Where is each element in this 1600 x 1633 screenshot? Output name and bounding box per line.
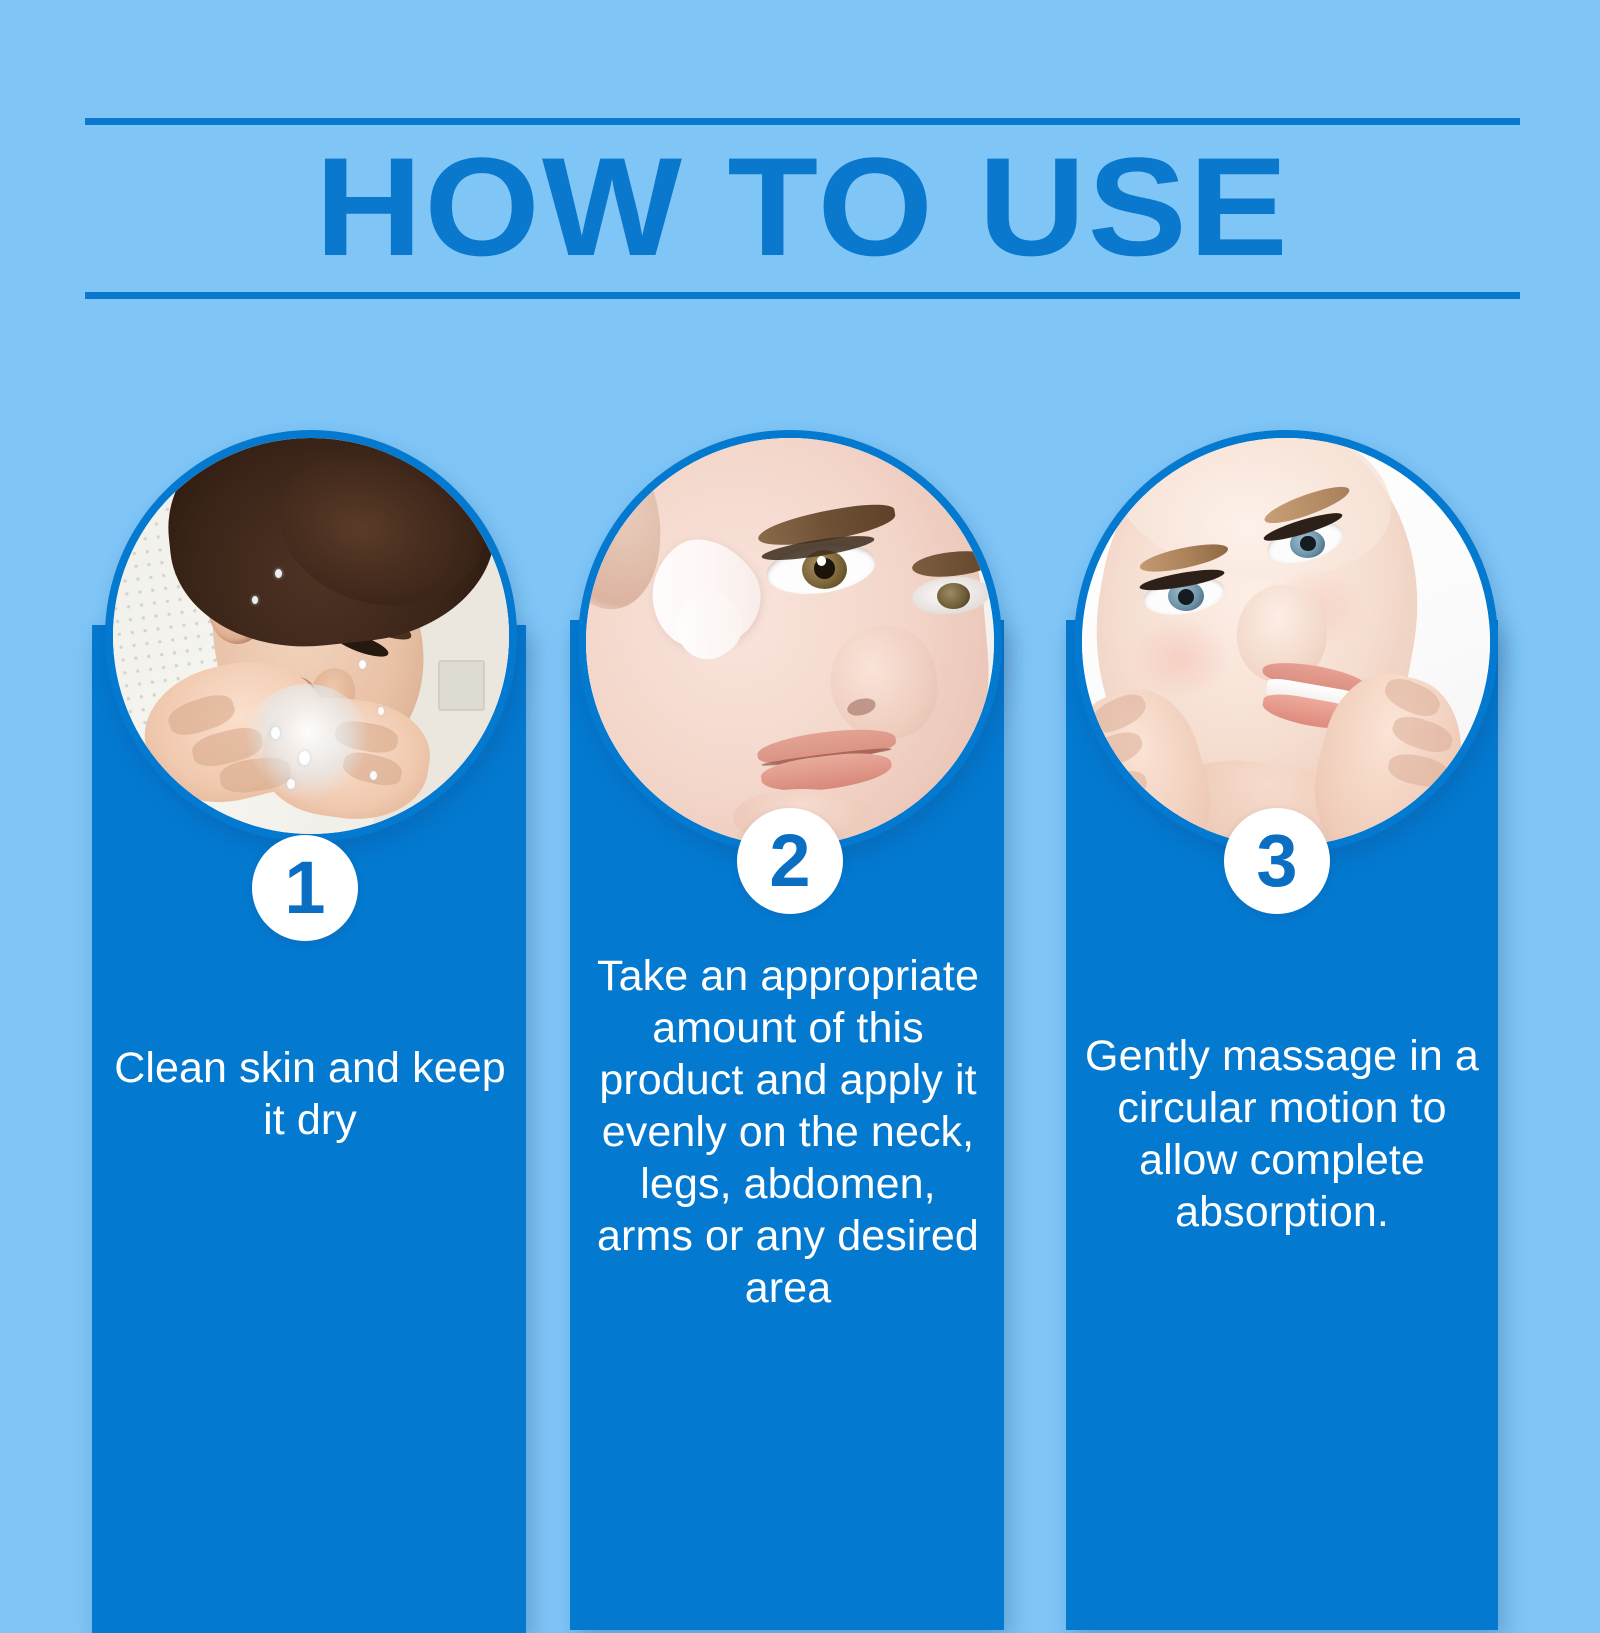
photo-art-cream-on-face: [586, 438, 994, 846]
steps-container: 1 Clean skin and keep it dry: [0, 0, 1600, 1600]
step-badge-3: 3: [1224, 808, 1330, 914]
step-badge-1: 1: [252, 835, 358, 941]
step-caption-2: Take an appropriate amount of this produ…: [588, 950, 988, 1314]
step-number-3: 3: [1256, 824, 1297, 898]
step-photo-1: [113, 438, 509, 834]
step-photo-3: [1082, 438, 1490, 846]
step-badge-2: 2: [737, 808, 843, 914]
step-caption-1: Clean skin and keep it dry: [114, 1042, 506, 1146]
step-photo-2: [586, 438, 994, 846]
step-number-2: 2: [769, 824, 810, 898]
step-number-1: 1: [284, 851, 325, 925]
photo-art-washing-face: [113, 438, 509, 834]
photo-art-massaging-face: [1082, 438, 1490, 846]
step-caption-3: Gently massage in a circular motion to a…: [1082, 1030, 1482, 1238]
